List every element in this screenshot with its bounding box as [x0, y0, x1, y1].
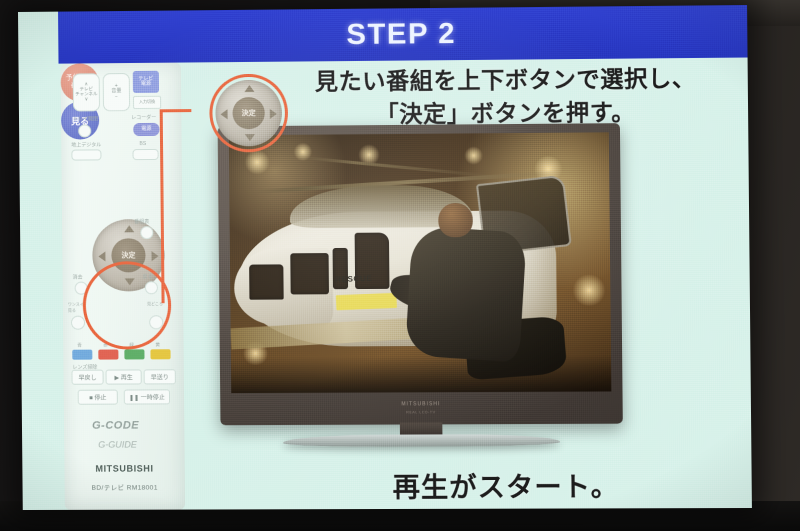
channel-down-icon: ∨: [85, 97, 89, 102]
remote-tray-open-button: [78, 124, 91, 137]
slide-header: STEP 2: [58, 5, 748, 64]
remote-pause-button: ❚❚ 一時停止: [124, 389, 170, 404]
remote-color-yellow-button: [150, 349, 170, 359]
gcode-logo: G-CODE: [92, 420, 139, 432]
bokeh-light: [244, 150, 271, 173]
color-yellow-label: 黄: [155, 342, 160, 348]
remote-terrestrial-digital-button: [71, 149, 101, 160]
remote-color-green-button: [124, 349, 144, 359]
remote-recorder-power-button: 電源: [133, 123, 159, 136]
arrow-up-icon: [124, 225, 134, 232]
remote-program-guide-button: [140, 226, 153, 239]
person-body: [405, 226, 527, 362]
remote-bs-button: [132, 149, 158, 160]
helicopter-window: [290, 253, 328, 294]
page-title: STEP 2: [346, 17, 456, 51]
instruction-line-1: 見たい番組を上下ボタンで選択し、: [315, 65, 696, 94]
tray-open-label: トレイ開閉: [73, 115, 98, 122]
picture-vignette: [231, 355, 611, 393]
arrow-right-icon: [152, 251, 159, 261]
arrow-left-icon: [98, 251, 105, 261]
recorder-power-label: 電源: [141, 127, 151, 132]
helicopter-window: [249, 264, 283, 300]
remote-channel-button: ∧ テレビ チャンネル ∨: [73, 73, 100, 111]
remote-play-button: ▶ 再生: [106, 369, 142, 384]
remote-tv-power-button: テレビ 電源: [133, 71, 159, 93]
remote-view-left-button: [71, 316, 85, 330]
color-blue-label: 青: [77, 343, 82, 349]
dpad-callout: 決定: [209, 74, 288, 153]
bokeh-light: [572, 275, 607, 306]
tv-stand-base: [283, 434, 560, 447]
remote-forward-button: 早送り: [144, 369, 176, 384]
projection-screen: STEP 2 見たい番組を上下ボタンで選択し、 「決定」ボタンを押す。 再生がス…: [18, 5, 752, 510]
person-head: [438, 203, 473, 237]
tv-picture: RESCUE: [229, 132, 612, 393]
remote-rewind-button: 早戻し: [71, 370, 103, 385]
remote-color-blue-button: [72, 350, 92, 360]
bs-label: BS: [139, 141, 146, 147]
input-select-label: 入力切換: [139, 100, 155, 104]
television-illustration: RESCUE MITSUBISHI REAL LCD-TV: [218, 123, 623, 425]
tv-power-label: テレビ 電源: [138, 77, 153, 88]
remote-brand: MITSUBISHI: [64, 463, 184, 473]
remote-model: BD/テレビ RM18001: [65, 481, 185, 491]
presentation-slide: STEP 2 見たい番組を上下ボタンで選択し、 「決定」ボタンを押す。 再生がス…: [18, 5, 752, 510]
view-left-label: ワンスイ 見る: [68, 302, 84, 314]
remote-input-select-button: 入力切換: [133, 96, 161, 109]
terrestrial-digital-label: 地上デジタル: [71, 141, 101, 148]
gguide-logo: G-GUIDE: [98, 440, 137, 450]
remote-color-red-button: [98, 350, 118, 360]
instruction-text: 見たい番組を上下ボタンで選択し、 「決定」ボタンを押す。: [267, 62, 744, 133]
recorder-label: レコーダー: [131, 114, 156, 121]
dpad-highlight-ring: [82, 261, 171, 350]
remote-volume-button: + 音量 −: [103, 73, 130, 111]
callout-ring: [209, 74, 288, 153]
remote-stop-button: ■ 停止: [78, 390, 118, 405]
erase-label: 消去: [73, 274, 83, 281]
tv-screen: RESCUE: [229, 132, 612, 393]
program-guide-label: 番組表: [134, 218, 149, 225]
slide-caption: 再生がスタート。: [324, 465, 689, 505]
volume-down-icon: −: [115, 95, 118, 100]
bokeh-light: [464, 146, 483, 164]
